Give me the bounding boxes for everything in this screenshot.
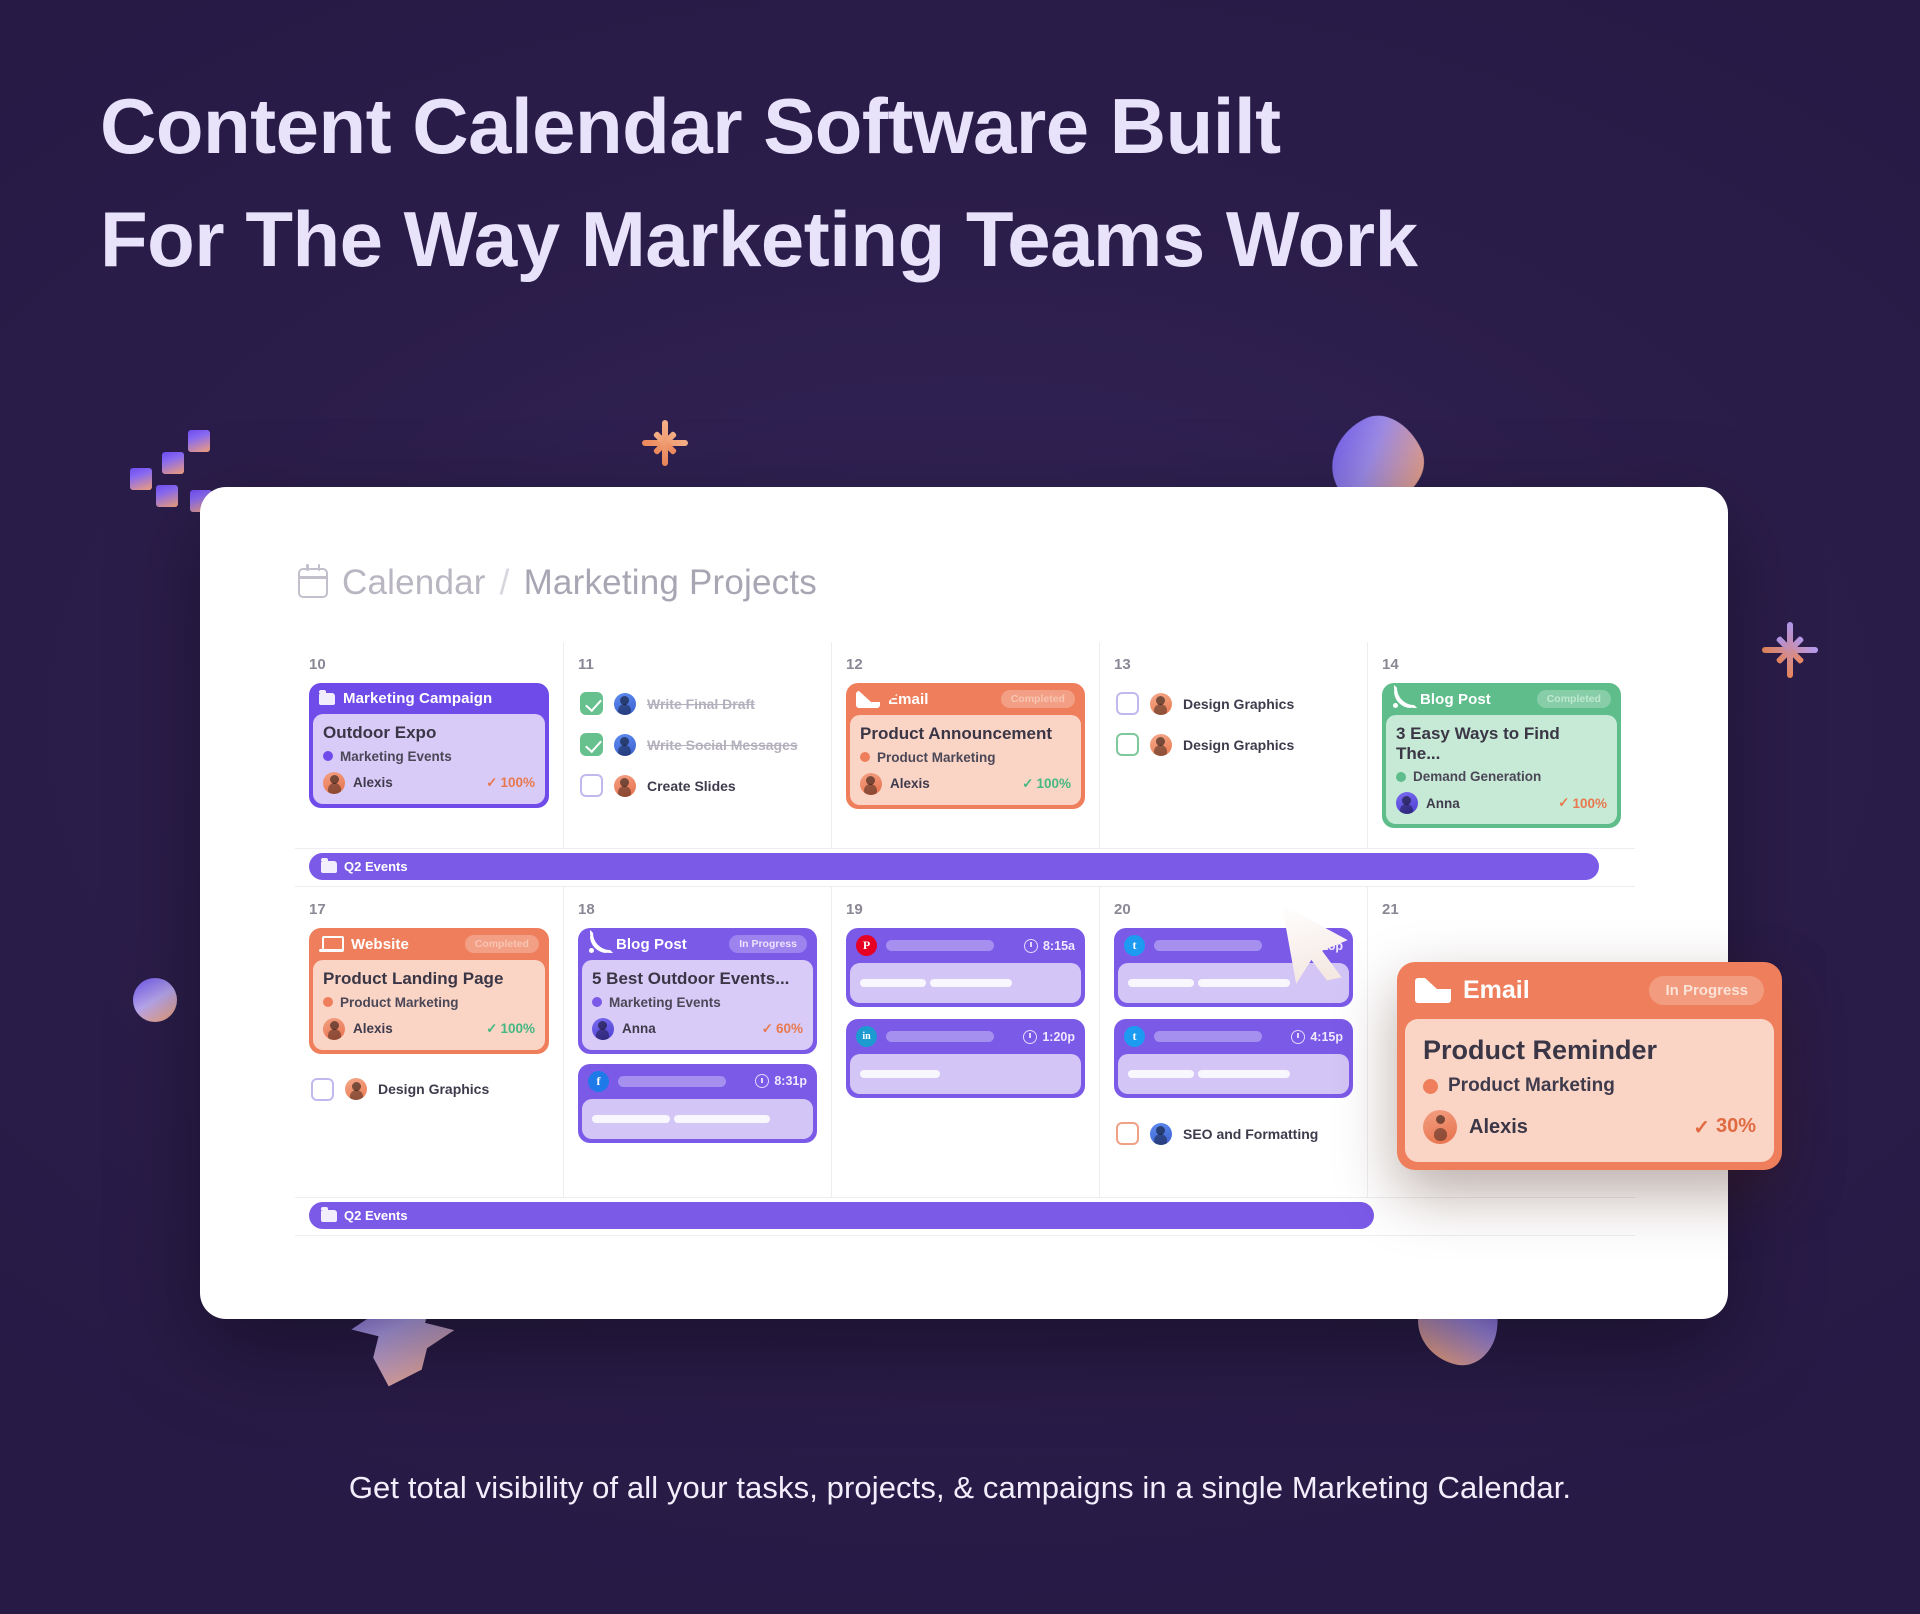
day-cell-12[interactable]: 12 Email Completed Product Announcement [831,642,1099,848]
placeholder-bar [886,940,994,951]
day-cell-19[interactable]: 19 P 8:15a [831,887,1099,1197]
task-row[interactable]: Design Graphics [309,1064,549,1110]
checkbox-checked[interactable] [580,733,603,756]
folder-icon [319,693,335,705]
clock-icon [1291,1030,1305,1044]
project-bar-label: Q2 Events [344,1208,408,1223]
checkbox-unchecked[interactable] [1116,1122,1139,1145]
featured-event-card-product-reminder[interactable]: Email In Progress Product Reminder Produ… [1397,962,1782,1170]
day-cell-13[interactable]: 13 Design Graphics Design Graphics [1099,642,1367,848]
event-category: Demand Generation [1413,769,1541,784]
category-dot [323,751,333,761]
event-type-label: Email [1463,976,1530,1005]
folder-icon [321,861,337,873]
category-dot [1423,1079,1438,1094]
placeholder-bar [886,1031,994,1042]
status-badge: Completed [1537,690,1611,708]
avatar [614,693,636,715]
social-card-facebook[interactable]: f 8:31p [578,1064,817,1143]
avatar [860,773,882,795]
task-row[interactable]: Design Graphics [1114,683,1353,724]
headline-line-1: Content Calendar Software Built [100,82,1281,170]
task-row[interactable]: Write Social Messages [578,724,817,765]
breadcrumb-current[interactable]: Marketing Projects [524,563,817,603]
status-badge: Completed [1001,690,1075,708]
rss-icon [588,935,608,953]
day-cell-17[interactable]: 17 Website Completed Product Landing Pag… [295,887,563,1197]
event-assignee: Alexis [353,775,393,790]
facebook-icon: f [588,1071,609,1092]
event-category: Marketing Events [609,995,721,1010]
breadcrumb: Calendar / Marketing Projects [298,563,817,603]
event-type-label: Marketing Campaign [343,690,492,707]
day-number: 14 [1368,642,1635,683]
linkedin-icon: in [856,1026,877,1047]
avatar [614,775,636,797]
event-assignee: Alexis [890,776,930,791]
envelope-icon [856,691,880,708]
event-type-label: Blog Post [1420,691,1491,708]
task-label: SEO and Formatting [1183,1126,1318,1142]
event-assignee: Anna [622,1021,656,1036]
checkbox-unchecked[interactable] [1116,733,1139,756]
social-card-pinterest[interactable]: P 8:15a [846,928,1085,1007]
status-badge: Completed [465,935,539,953]
headline-line-2: For The Way Marketing Teams Work [100,183,1860,296]
task-row[interactable]: SEO and Formatting [1114,1110,1353,1154]
avatar [1150,693,1172,715]
event-category: Product Marketing [1448,1075,1615,1097]
social-time: 1:20p [1023,1030,1075,1044]
day-cell-18[interactable]: 18 Blog Post In Progress 5 Best Outdoor … [563,887,831,1197]
task-label: Design Graphics [1183,737,1294,753]
event-assignee: Anna [1426,796,1460,811]
avatar [323,1018,345,1040]
event-title: 5 Best Outdoor Events... [592,969,803,989]
check-icon: ✓ [762,1021,773,1037]
event-title: 3 Easy Ways to Find The... [1396,724,1607,763]
day-number: 19 [832,887,1099,928]
folder-icon [321,1210,337,1222]
event-card-email[interactable]: Email Completed Product Announcement Pro… [846,683,1085,809]
social-card-twitter[interactable]: t 4:15p [1114,1019,1353,1098]
envelope-icon [1415,978,1451,1003]
decor-circle-left [133,978,177,1022]
calendar-icon [298,568,328,598]
laptop-icon [319,936,343,952]
avatar [345,1078,367,1100]
placeholder-bar [618,1076,726,1087]
event-assignee: Alexis [1469,1116,1528,1139]
category-dot [860,752,870,762]
event-category: Marketing Events [340,749,452,764]
event-progress: ✓100% [486,1021,535,1037]
rss-icon [1392,690,1412,708]
event-progress: ✓100% [1022,776,1071,792]
task-label: Write Social Messages [647,737,798,753]
event-progress: ✓ 30% [1693,1115,1756,1140]
event-progress: ✓100% [486,775,535,791]
pinterest-icon: P [856,935,877,956]
event-card-blog-post[interactable]: Blog Post Completed 3 Easy Ways to Find … [1382,683,1621,828]
checkbox-unchecked[interactable] [311,1078,334,1101]
avatar [614,734,636,756]
check-icon: ✓ [1558,795,1569,811]
project-bar-q2-events[interactable]: Q2 Events [309,853,1599,880]
task-label: Write Final Draft [647,696,755,712]
event-card-website[interactable]: Website Completed Product Landing Page P… [309,928,549,1054]
check-icon: ✓ [1022,776,1033,792]
check-icon: ✓ [486,775,497,791]
event-title: Product Announcement [860,724,1071,744]
twitter-icon: t [1124,1026,1145,1047]
project-bar-q2-events[interactable]: Q2 Events [309,1202,1374,1229]
calendar-app-window: Calendar / Marketing Projects 10 [200,487,1728,1319]
avatar [1150,1123,1172,1145]
avatar [1423,1110,1457,1144]
category-dot [1396,772,1406,782]
day-number: 10 [295,642,563,683]
twitter-icon: t [1124,935,1145,956]
task-label: Create Slides [647,778,736,794]
social-time: 8:15a [1024,939,1075,953]
checkbox-unchecked[interactable] [1116,692,1139,715]
day-number: 17 [295,887,563,928]
page-root: Content Calendar Software Built For The … [0,0,1920,1614]
avatar [1396,792,1418,814]
event-progress: ✓100% [1558,795,1607,811]
event-card-marketing-campaign[interactable]: Marketing Campaign Outdoor Expo Marketin… [309,683,549,808]
decor-sparkle-right [1760,620,1820,680]
event-progress: ✓60% [762,1021,803,1037]
avatar [592,1018,614,1040]
event-type-label: Blog Post [616,936,687,953]
decor-sparkle-top [640,418,690,468]
page-caption: Get total visibility of all your tasks, … [0,1470,1920,1506]
event-type-label: Website [351,936,409,953]
task-label: Design Graphics [1183,696,1294,712]
clock-icon [1023,1030,1037,1044]
breadcrumb-root[interactable]: Calendar [342,563,486,603]
day-cell-14[interactable]: 14 Blog Post Completed 3 Easy Ways to Fi… [1367,642,1635,848]
avatar [1150,734,1172,756]
event-title: Product Reminder [1423,1035,1756,1066]
day-number: 12 [832,642,1099,683]
day-number: 18 [564,887,831,928]
category-dot [592,997,602,1007]
day-cell-11[interactable]: 11 Write Final Draft Write Social Messag… [563,642,831,848]
event-category: Product Marketing [877,750,996,765]
check-icon: ✓ [1693,1115,1710,1140]
social-time: 8:31p [755,1074,807,1088]
breadcrumb-separator: / [500,563,510,603]
task-row[interactable]: Write Final Draft [578,683,817,724]
clock-icon [1024,939,1038,953]
check-icon: ✓ [486,1021,497,1037]
placeholder-bar [1154,940,1262,951]
day-number: 13 [1100,642,1367,683]
status-badge: In Progress [1649,976,1764,1005]
day-number: 11 [564,642,831,683]
event-title: Product Landing Page [323,969,535,989]
day-cell-10[interactable]: 10 Marketing Campaign Outdoor Expo [295,642,563,848]
task-row[interactable]: Create Slides [578,765,817,806]
category-dot [323,997,333,1007]
project-bar-label: Q2 Events [344,859,408,874]
social-card-linkedin[interactable]: in 1:20p [846,1019,1085,1098]
task-label: Design Graphics [378,1081,489,1097]
task-row[interactable]: Design Graphics [1114,724,1353,765]
checkbox-checked[interactable] [580,692,603,715]
event-assignee: Alexis [353,1021,393,1036]
day-number: 20 [1100,887,1367,928]
social-time: 4:15p [1291,1030,1343,1044]
clock-icon [755,1074,769,1088]
event-category: Product Marketing [340,995,459,1010]
event-card-blog-post[interactable]: Blog Post In Progress 5 Best Outdoor Eve… [578,928,817,1054]
event-title: Outdoor Expo [323,723,535,743]
checkbox-unchecked[interactable] [580,774,603,797]
calendar-week-1: 10 Marketing Campaign Outdoor Expo [295,642,1635,848]
page-title: Content Calendar Software Built For The … [100,70,1860,296]
avatar [323,772,345,794]
status-badge: In Progress [729,935,807,953]
placeholder-bar [1154,1031,1262,1042]
day-number: 21 [1368,887,1635,928]
